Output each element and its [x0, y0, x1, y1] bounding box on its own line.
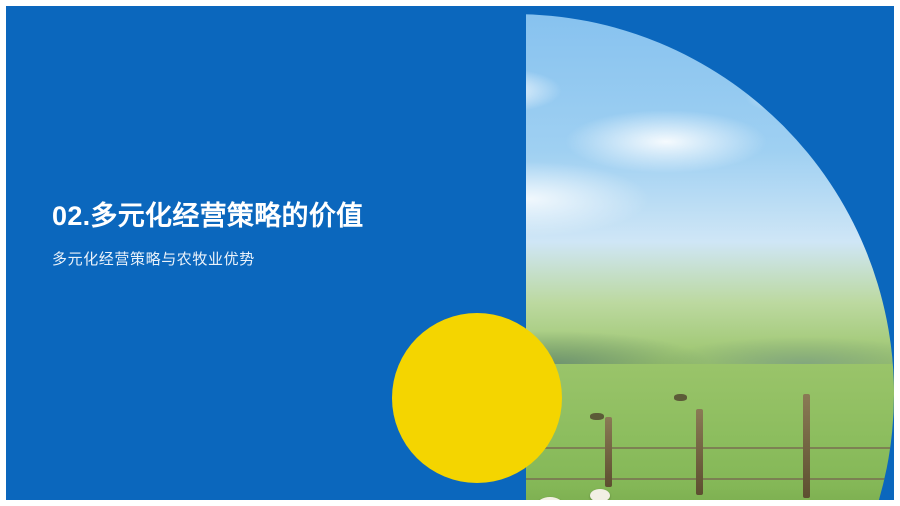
cow-icon	[674, 394, 687, 401]
frame-border-bottom	[0, 500, 900, 506]
fence-post	[696, 409, 703, 495]
sheep-icon	[590, 489, 610, 500]
fence-post	[803, 394, 810, 498]
fence-wire	[468, 478, 894, 480]
slide-text-block: 02.多元化经营策略的价值 多元化经营策略与农牧业优势	[52, 200, 363, 269]
slide-subtitle: 多元化经营策略与农牧业优势	[52, 248, 363, 269]
frame-border-right	[894, 0, 900, 506]
frame-border-top	[0, 0, 900, 6]
yellow-circle-decoration	[392, 313, 562, 483]
presentation-slide: 02.多元化经营策略的价值 多元化经营策略与农牧业优势	[0, 0, 900, 506]
fence-post	[605, 417, 612, 487]
cow-icon	[590, 413, 604, 420]
frame-border-left	[0, 0, 6, 506]
slide-title: 02.多元化经营策略的价值	[52, 200, 363, 234]
